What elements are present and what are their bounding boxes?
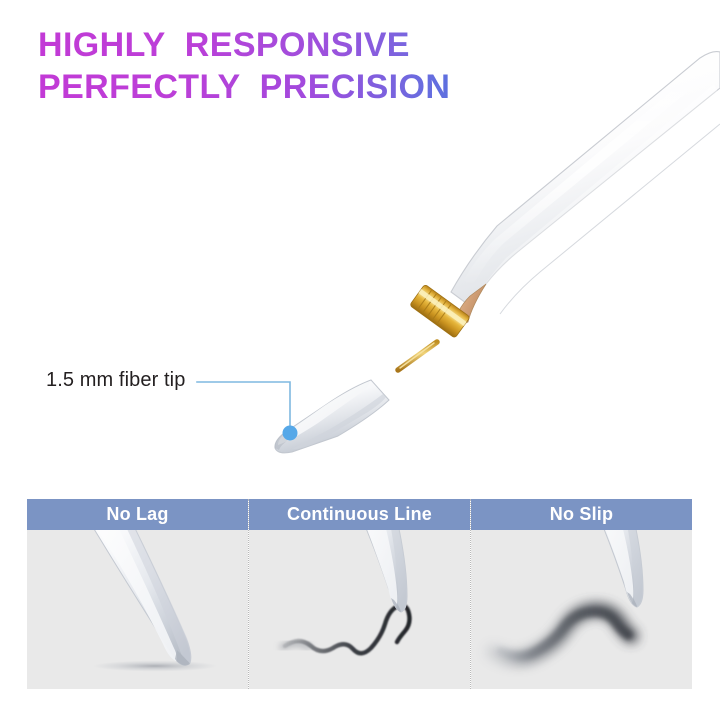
feature-panel-row: No Lag — [27, 499, 692, 689]
stylus-tip-artwork-1 — [27, 530, 248, 689]
fiber-tip-cone — [275, 380, 389, 453]
feature-panel-image-no-slip — [471, 530, 692, 689]
feature-panel-title: Continuous Line — [249, 499, 470, 530]
product-feature-graphic: HIGHLY RESPONSIVE PERFECTLY PRECISION — [0, 0, 720, 720]
stylus-illustration — [0, 0, 720, 490]
gold-connector — [398, 284, 486, 370]
stylus-artwork — [0, 0, 720, 490]
feature-panel-no-slip: No Slip — [470, 499, 692, 689]
stylus-tip-artwork-3 — [471, 530, 692, 689]
feature-panel-title: No Lag — [27, 499, 248, 530]
feature-panel-image-continuous-line — [249, 530, 470, 689]
callout-label: 1.5 mm fiber tip — [46, 369, 185, 392]
feature-panel-image-no-lag — [27, 530, 248, 689]
feature-panel-no-lag: No Lag — [27, 499, 248, 689]
callout-dot — [283, 426, 298, 441]
feature-panel-title: No Slip — [471, 499, 692, 530]
pen-barrel — [451, 52, 720, 314]
stylus-tip-artwork-2 — [249, 530, 470, 689]
feature-panel-continuous-line: Continuous Line — [248, 499, 470, 689]
callout-leader — [197, 382, 298, 441]
